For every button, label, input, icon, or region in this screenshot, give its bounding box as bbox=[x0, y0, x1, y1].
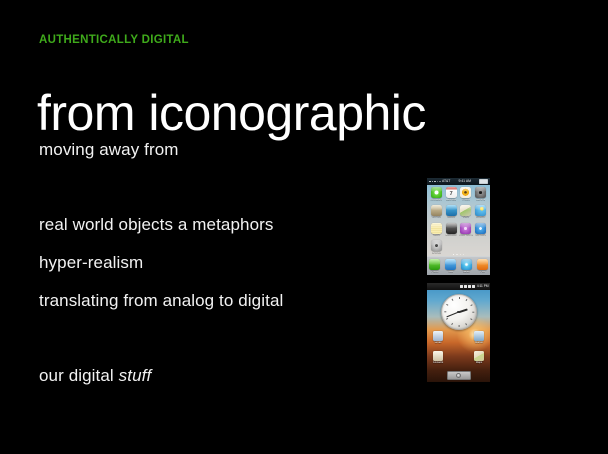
ios-dock-app-mail[interactable]: Mail bbox=[445, 259, 456, 273]
photos-icon bbox=[460, 187, 471, 198]
slide-eyebrow-label: AUTHENTICALLY DIGITAL bbox=[39, 34, 189, 46]
ios-app-settings[interactable]: Settings bbox=[429, 240, 444, 254]
ios-battery-icon bbox=[479, 179, 488, 184]
clock-center-pin bbox=[457, 311, 459, 313]
ios-app-maps[interactable]: Maps bbox=[459, 205, 474, 219]
market-icon bbox=[474, 331, 484, 341]
ios-app-label: Maps bbox=[463, 216, 469, 219]
android-app-label: Gmail bbox=[435, 342, 442, 345]
stocks-icon bbox=[446, 205, 457, 216]
ios-app-voice-memos[interactable]: Voice Memos bbox=[459, 223, 474, 237]
ios-dock-app-ipod[interactable]: iPod bbox=[477, 259, 488, 273]
weather-icon bbox=[475, 205, 486, 216]
calendar-icon: 7 bbox=[446, 187, 457, 198]
android-app-contacts[interactable]: Contacts bbox=[430, 351, 446, 364]
android-app-market[interactable]: Market bbox=[471, 331, 487, 344]
settings-icon bbox=[431, 240, 442, 251]
ios-app-weather[interactable]: Weather bbox=[473, 205, 488, 219]
camera-icon bbox=[475, 187, 486, 198]
ios-dock-app-phone[interactable]: Phone bbox=[429, 259, 440, 273]
ios-app-messages[interactable]: Messages bbox=[429, 187, 444, 201]
maps-icon bbox=[460, 205, 471, 216]
ios-app-label: Voice Memos bbox=[459, 234, 473, 237]
ios-page-indicator bbox=[427, 254, 490, 255]
body-line-moving: moving away from bbox=[39, 140, 179, 160]
body-line-hyper-realism: hyper-realism bbox=[39, 253, 143, 273]
clock-hour-hand bbox=[458, 308, 467, 312]
closing-emphasis-text: stuff bbox=[119, 366, 152, 385]
android-battery-icon bbox=[472, 285, 475, 288]
ios-app-camera[interactable]: Camera bbox=[473, 187, 488, 201]
ios-app-label: Calendar bbox=[446, 199, 457, 202]
android-wifi-icon bbox=[468, 285, 471, 288]
ios-app-label: Messages bbox=[430, 199, 442, 202]
ios-signal-icon: AT&T bbox=[429, 180, 450, 183]
android-signal-icon bbox=[464, 285, 467, 288]
android-app-label: Market bbox=[475, 342, 483, 345]
body-line-our-digital-stuff: our digital stuff bbox=[39, 366, 151, 386]
contacts-icon bbox=[433, 351, 443, 361]
ios-dock-label: Phone bbox=[431, 271, 439, 274]
ios-app-label: Stocks bbox=[447, 216, 455, 219]
safari-icon bbox=[461, 259, 472, 270]
ipod-icon bbox=[477, 259, 488, 270]
ios-app-label: App Store bbox=[475, 234, 487, 237]
analog-clock-widget[interactable] bbox=[441, 294, 477, 330]
ios-app-label: Calculator bbox=[445, 234, 457, 237]
ios-app-calculator[interactable]: Calculator bbox=[444, 223, 459, 237]
calculator-icon bbox=[446, 223, 457, 234]
messages-icon bbox=[431, 187, 442, 198]
ios-carrier-label: AT&T bbox=[442, 180, 450, 183]
ios-time-label-wrap: 9:41 AM bbox=[458, 180, 470, 183]
voice-memos-icon bbox=[460, 223, 471, 234]
body-line-translating: translating from analog to digital bbox=[39, 291, 283, 311]
ios-app-calendar[interactable]: 7 Calendar bbox=[444, 187, 459, 201]
ios-dock-app-safari[interactable]: Safari bbox=[461, 259, 472, 273]
android-app-label: Contacts bbox=[433, 362, 443, 365]
ios-dock-label: Mail bbox=[448, 271, 453, 274]
phone-icon bbox=[429, 259, 440, 270]
maps-icon bbox=[474, 351, 484, 361]
ios-dock-label: Safari bbox=[463, 271, 470, 274]
android-home-screen: 4:11 PM Gmail bbox=[427, 283, 490, 382]
body-line-objects: real world objects a metaphors bbox=[39, 215, 274, 235]
android-clock-label: 4:11 PM bbox=[477, 285, 489, 288]
android-app-label: Maps bbox=[476, 362, 482, 365]
ios-app-youtube[interactable]: YouTube bbox=[429, 205, 444, 219]
ios-app-label: Weather bbox=[476, 216, 486, 219]
ios-app-app-store[interactable]: App Store bbox=[473, 223, 488, 237]
ios-dock-label: iPod bbox=[480, 271, 485, 274]
ios-app-grid: Messages 7 Calendar Photos Camera YouTub… bbox=[427, 187, 490, 255]
notes-icon bbox=[431, 223, 442, 234]
mail-icon bbox=[445, 259, 456, 270]
ios-status-bar: AT&T 9:41 AM bbox=[427, 178, 490, 185]
slide-title: from iconographic bbox=[37, 85, 426, 141]
android-app-maps[interactable]: Maps bbox=[471, 351, 487, 364]
ios-time-label: 9:41 AM bbox=[458, 180, 470, 183]
ios-app-label: Camera bbox=[476, 199, 485, 202]
closing-lead-text: our digital bbox=[39, 366, 119, 385]
ios-app-photos[interactable]: Photos bbox=[459, 187, 474, 201]
ios-app-label: YouTube bbox=[431, 216, 441, 219]
ios-app-label: Notes bbox=[433, 234, 440, 237]
app-drawer-grip-icon bbox=[456, 373, 462, 379]
app-store-icon bbox=[475, 223, 486, 234]
android-app-gmail[interactable]: Gmail bbox=[430, 331, 446, 344]
slide-canvas: AUTHENTICALLY DIGITAL from iconographic … bbox=[0, 0, 608, 454]
youtube-icon bbox=[431, 205, 442, 216]
ios-home-screen: AT&T 9:41 AM Messages 7 Calendar bbox=[427, 178, 490, 275]
ios-app-notes[interactable]: Notes bbox=[429, 223, 444, 237]
android-status-bar: 4:11 PM bbox=[427, 283, 490, 290]
android-phone-screenshot: 4:11 PM Gmail bbox=[427, 283, 490, 382]
app-drawer-button[interactable] bbox=[447, 371, 471, 380]
android-sync-icon bbox=[460, 285, 463, 288]
ios-phone-screenshot: AT&T 9:41 AM Messages 7 Calendar bbox=[427, 178, 490, 275]
ios-app-stocks[interactable]: Stocks bbox=[444, 205, 459, 219]
ios-app-label: Photos bbox=[462, 199, 470, 202]
ios-dock: Phone Mail Safari iPod bbox=[427, 256, 490, 275]
gmail-icon bbox=[433, 331, 443, 341]
